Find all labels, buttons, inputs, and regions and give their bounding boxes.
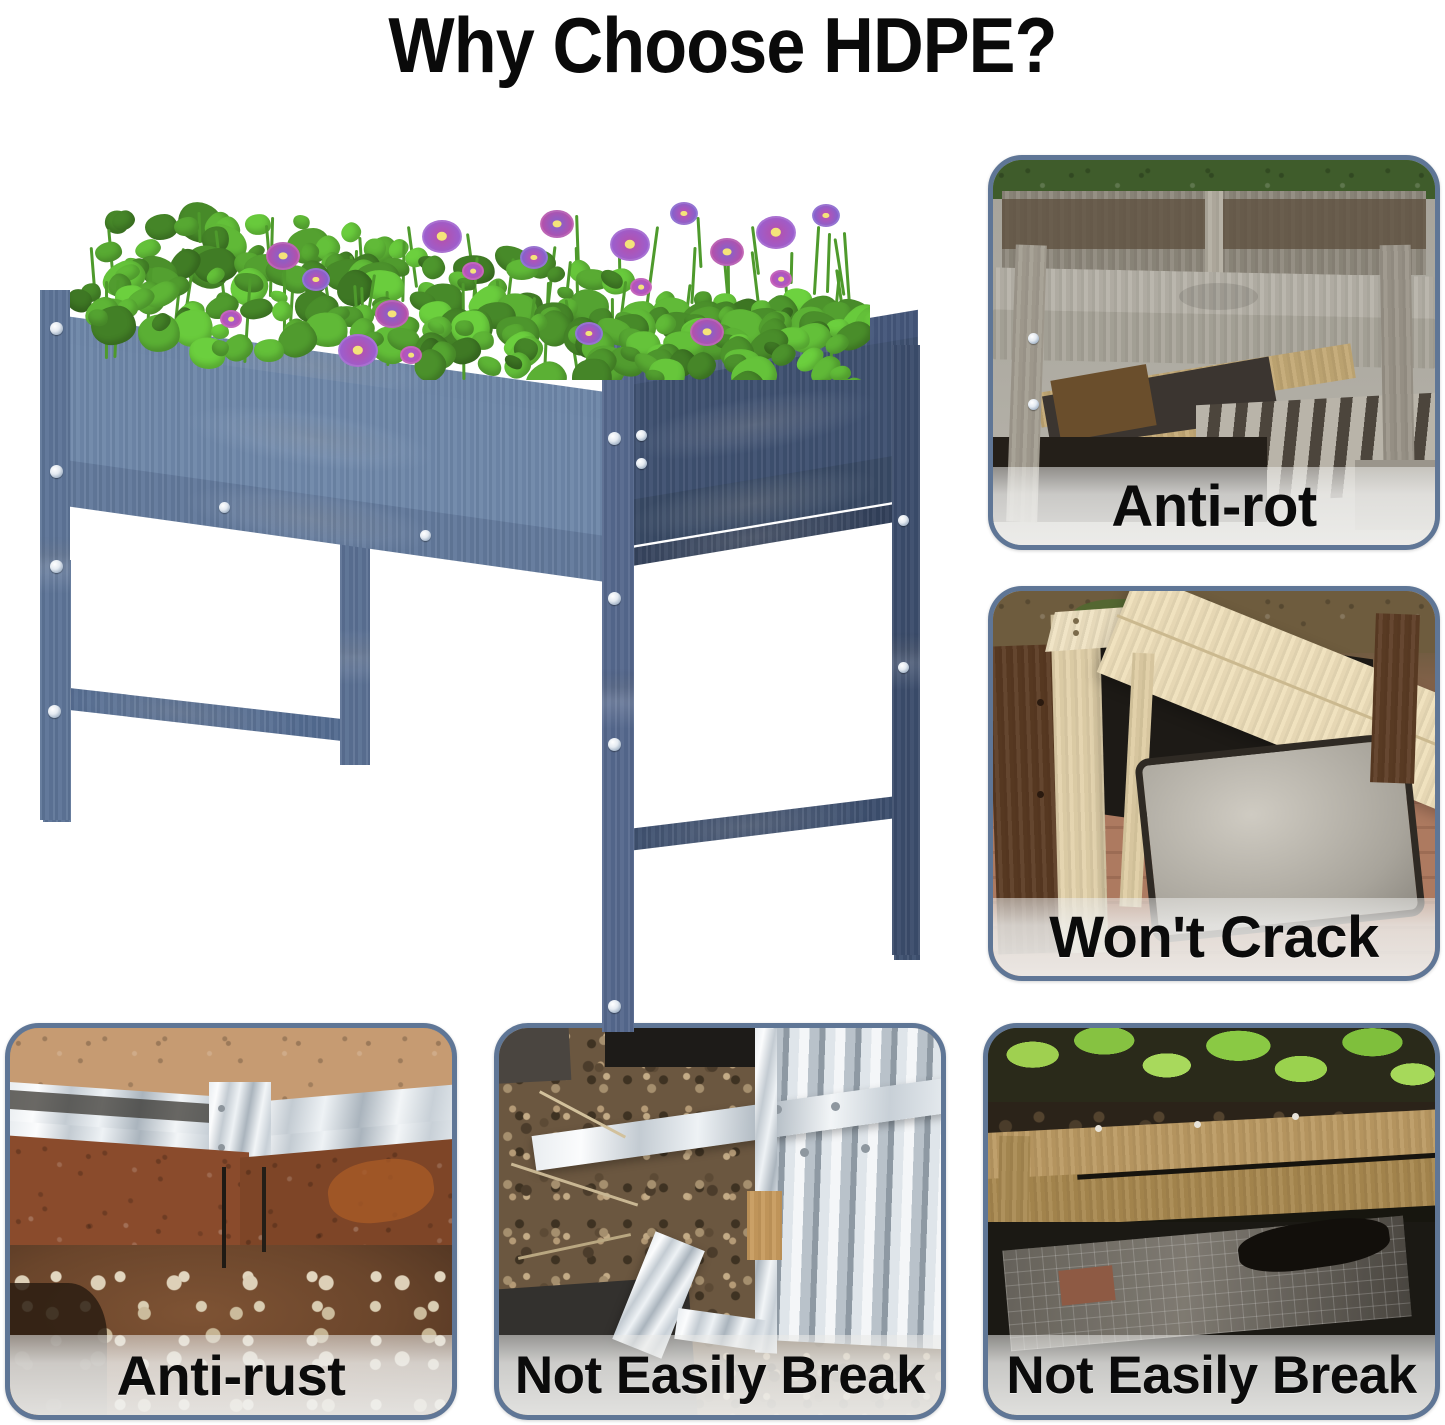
planter-brace-right	[620, 795, 905, 852]
screw	[608, 738, 621, 751]
screw	[898, 662, 909, 673]
screw	[50, 465, 63, 478]
flower	[630, 278, 652, 296]
flower	[710, 238, 744, 266]
screw	[50, 322, 63, 335]
panel-caption: Not Easily Break	[988, 1335, 1435, 1415]
screw	[608, 1000, 621, 1013]
panel-caption: Anti-rust	[10, 1335, 452, 1415]
stem	[697, 217, 703, 268]
planter-corner-post-front-right	[602, 342, 634, 1032]
screw	[636, 430, 647, 441]
panel-caption: Not Easily Break	[499, 1335, 941, 1415]
hero-product-image	[10, 140, 970, 1020]
flower	[670, 202, 698, 225]
screw	[219, 502, 230, 513]
planter-brace-left	[43, 685, 343, 741]
feature-panel-not-easily-break-metal: Not Easily Break	[494, 1023, 946, 1420]
flower	[220, 310, 242, 328]
panel-caption: Anti-rot	[993, 467, 1435, 545]
stem	[826, 233, 831, 293]
planter-corner-post-right	[892, 345, 920, 955]
planter-leg-mid	[340, 540, 370, 765]
screw	[50, 560, 63, 573]
flower	[422, 220, 462, 253]
feature-panel-wont-crack: Won't Crack	[988, 586, 1440, 981]
feature-panel-anti-rust: Anti-rust	[5, 1023, 457, 1420]
flower	[462, 262, 484, 280]
flower	[266, 242, 300, 270]
plant-foliage	[70, 150, 870, 380]
flower	[756, 216, 796, 249]
screw	[420, 530, 431, 541]
flower	[338, 334, 378, 367]
infographic-page: Why Choose HDPE?	[0, 0, 1445, 1425]
screw	[636, 458, 647, 469]
flower	[520, 246, 548, 269]
flower	[610, 228, 650, 261]
leaf	[93, 241, 123, 264]
flower	[770, 270, 792, 288]
screw	[608, 432, 621, 445]
feature-panel-not-easily-break-wood: Not Easily Break	[983, 1023, 1440, 1420]
flower	[375, 300, 409, 328]
panel-caption: Won't Crack	[993, 898, 1435, 976]
flower	[575, 322, 603, 345]
page-title: Why Choose HDPE?	[72, 2, 1373, 90]
flower	[400, 346, 422, 364]
flower	[690, 318, 724, 346]
screw	[898, 515, 909, 526]
flower	[302, 268, 330, 291]
stem	[813, 226, 820, 295]
feature-panel-anti-rot: Anti-rot	[988, 155, 1440, 550]
flower	[540, 210, 574, 238]
planter-corner-post-left	[40, 290, 70, 820]
flower	[812, 204, 840, 227]
leaf	[144, 214, 178, 241]
screw	[48, 705, 61, 718]
screw	[608, 592, 621, 605]
